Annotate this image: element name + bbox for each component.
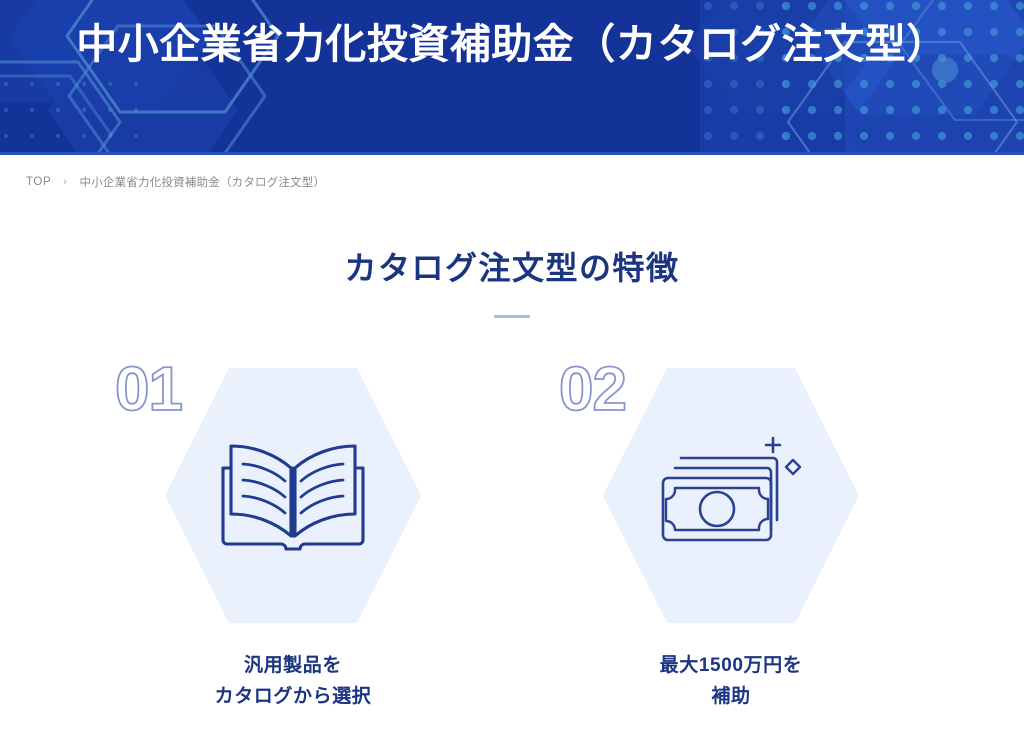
section-heading-block: カタログ注文型の特徴 bbox=[0, 248, 1024, 318]
money-stack-icon bbox=[651, 424, 811, 564]
feature-caption-02: 最大1500万円を 補助 bbox=[603, 651, 859, 713]
page-hero-header: 中小企業省力化投資補助金（カタログ注文型） bbox=[0, 0, 1024, 155]
breadcrumb: TOP › 中小企業省力化投資補助金（カタログ注文型） bbox=[26, 174, 325, 190]
page-root: 中小企業省力化投資補助金（カタログ注文型） TOP › 中小企業省力化投資補助金… bbox=[0, 0, 1024, 742]
feature-hex-wrap-01: 01 bbox=[165, 365, 421, 623]
open-book-icon bbox=[213, 424, 373, 564]
chevron-right-icon: › bbox=[63, 176, 67, 188]
section-divider bbox=[494, 315, 530, 318]
svg-text:01: 01 bbox=[115, 358, 182, 420]
feature-caption-01: 汎用製品を カタログから選択 bbox=[165, 651, 421, 713]
section-title: カタログ注文型の特徴 bbox=[0, 248, 1024, 288]
feature-hex-wrap-02: 02 bbox=[603, 365, 859, 623]
feature-card-02: 02 bbox=[603, 365, 859, 713]
svg-text:02: 02 bbox=[559, 358, 626, 420]
hero-background-pattern bbox=[0, 0, 1024, 155]
feature-number-01: 01 bbox=[113, 358, 233, 420]
feature-card-01: 01 bbox=[165, 365, 421, 713]
feature-list: 01 bbox=[0, 365, 1024, 713]
breadcrumb-item-top[interactable]: TOP bbox=[26, 176, 51, 188]
feature-number-02: 02 bbox=[557, 358, 677, 420]
breadcrumb-item-current: 中小企業省力化投資補助金（カタログ注文型） bbox=[80, 174, 326, 190]
